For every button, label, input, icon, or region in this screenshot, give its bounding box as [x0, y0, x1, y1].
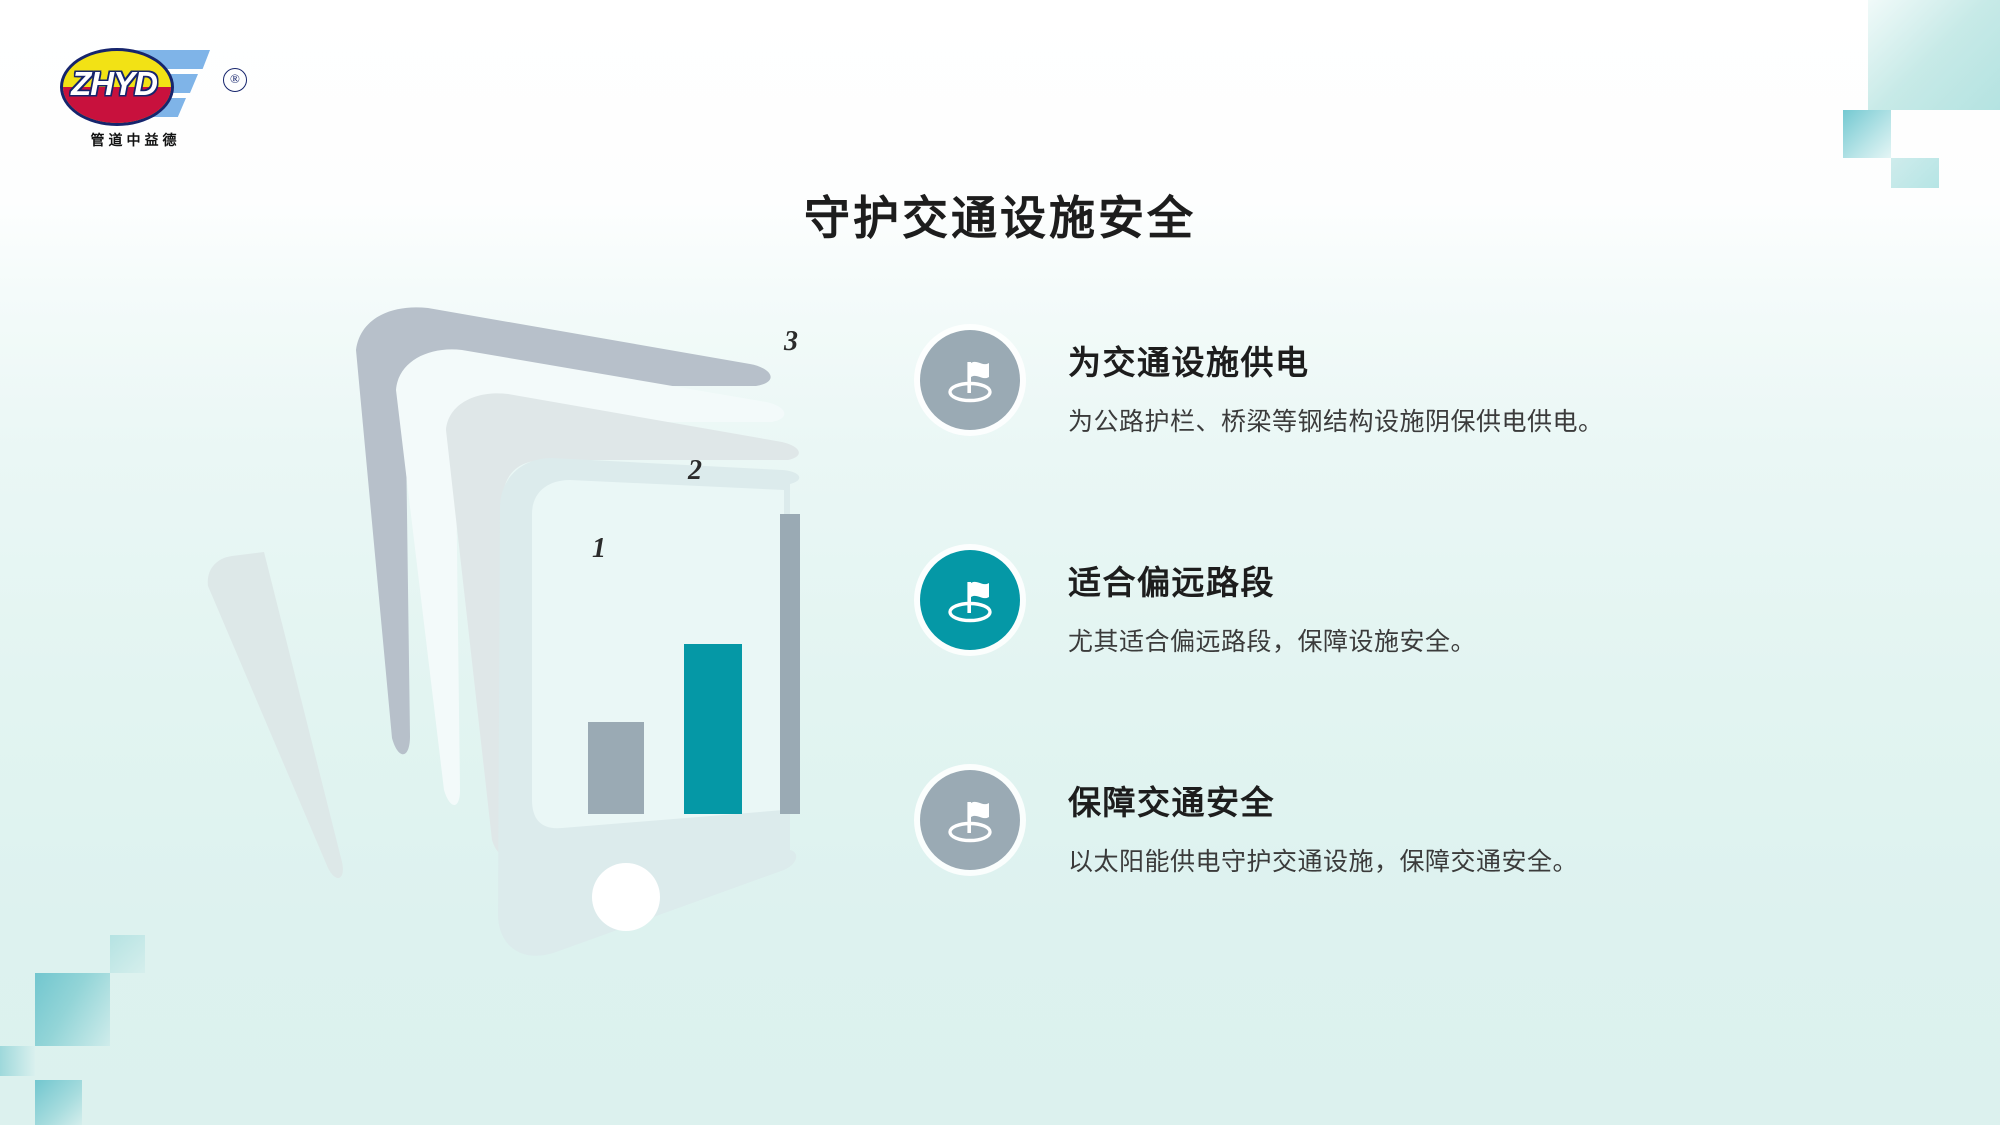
feature-item-2[interactable]: 适合偏远路段 尤其适合偏远路段，保障设施安全。 — [920, 550, 1780, 658]
feature-title-3: 保障交通安全 — [1068, 776, 1578, 824]
feature-title-2: 适合偏远路段 — [1068, 556, 1476, 604]
golf-flag-icon — [920, 550, 1020, 650]
illustration-tablet-chart: 1 2 3 — [160, 290, 800, 1010]
decorative-square-top-right-large — [1868, 0, 2000, 110]
feature-text-2: 适合偏远路段 尤其适合偏远路段，保障设施安全。 — [1068, 550, 1476, 658]
registered-trademark-icon: ® — [223, 68, 247, 92]
feature-desc-2: 尤其适合偏远路段，保障设施安全。 — [1068, 622, 1476, 658]
page-title: 守护交通设施安全 — [0, 182, 2000, 248]
feature-list: 为交通设施供电 为公路护栏、桥梁等钢结构设施阴保供电供电。 适合偏远路段 尤其适… — [920, 330, 1780, 878]
decorative-square-bottom-left-edge — [0, 1046, 35, 1076]
feature-desc-1: 为公路护栏、桥梁等钢结构设施阴保供电供电。 — [1068, 402, 1604, 438]
feature-text-1: 为交通设施供电 为公路护栏、桥梁等钢结构设施阴保供电供电。 — [1068, 330, 1604, 438]
company-logo: ZHYD ® 管道中益德 — [40, 42, 215, 152]
logo-wordmark: ZHYD — [60, 48, 168, 120]
home-button-circle — [592, 863, 660, 931]
chart-bar-1 — [588, 722, 644, 814]
logo-chinese-name: 管道中益德 — [68, 130, 203, 150]
feature-title-1: 为交通设施供电 — [1068, 336, 1604, 384]
decorative-square-bottom-left-small — [110, 935, 145, 973]
chart-bar-2 — [684, 644, 742, 814]
illustration-loose-page — [208, 552, 343, 878]
feature-item-3[interactable]: 保障交通安全 以太阳能供电守护交通设施，保障交通安全。 — [920, 770, 1780, 878]
slide-root: ZHYD ® 管道中益德 守护交通设施安全 1 — [0, 0, 2000, 1125]
feature-text-3: 保障交通安全 以太阳能供电守护交通设施，保障交通安全。 — [1068, 770, 1578, 878]
decorative-square-top-right-medium — [1843, 110, 1891, 158]
decorative-square-bottom-left-large — [35, 973, 110, 1046]
feature-item-1[interactable]: 为交通设施供电 为公路护栏、桥梁等钢结构设施阴保供电供电。 — [920, 330, 1780, 438]
illustration-tablet-screen — [532, 480, 784, 828]
golf-flag-icon — [920, 330, 1020, 430]
golf-flag-icon — [920, 770, 1020, 870]
feature-desc-3: 以太阳能供电守护交通设施，保障交通安全。 — [1068, 842, 1578, 878]
decorative-square-bottom-left-medium — [35, 1080, 82, 1125]
chart-bar-label-3: 3 — [784, 326, 798, 358]
chart-bar-3 — [780, 514, 800, 814]
chart-bar-label-2: 2 — [688, 455, 702, 487]
chart-bar-label-1: 1 — [592, 533, 606, 565]
